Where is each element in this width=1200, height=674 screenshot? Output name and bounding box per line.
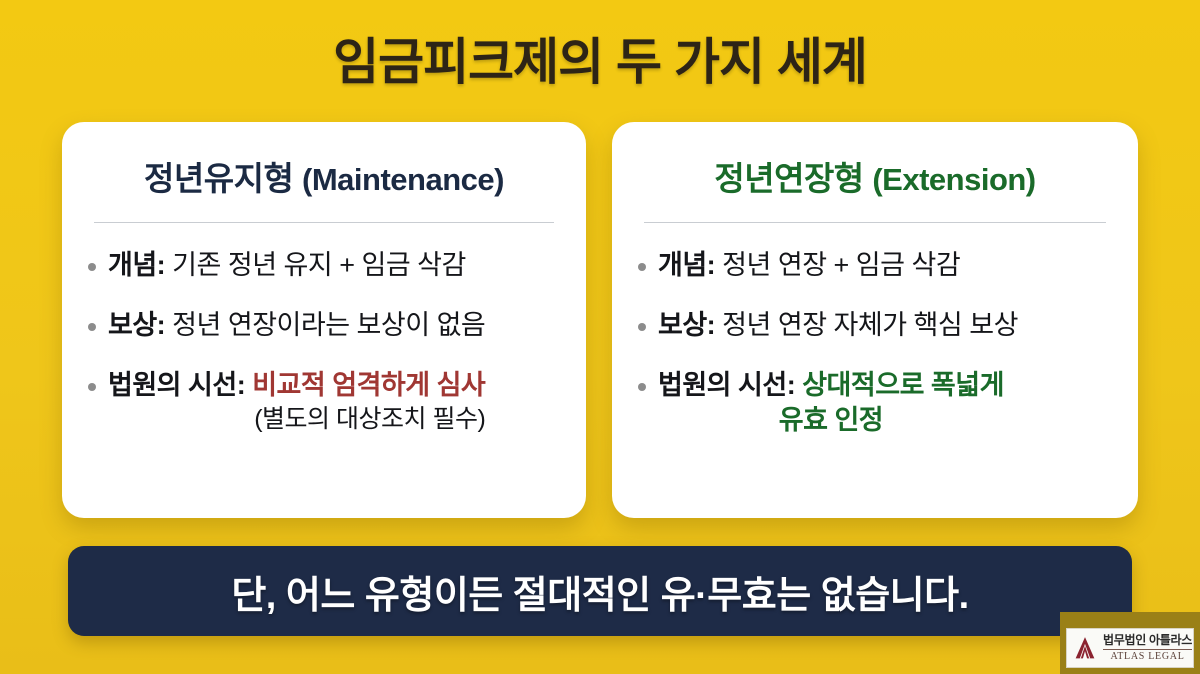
bullet-label: 보상:	[658, 310, 715, 340]
card-extension-heading-en: (Extension)	[872, 162, 1035, 197]
bullet-text: 개념: 기존 정년 유지 + 임금 삭감	[108, 249, 466, 283]
bullet-accent-line2: 유효 인정	[658, 404, 1004, 438]
bullet-dot-icon	[638, 263, 646, 271]
list-item: 법원의 시선: 비교적 엄격하게 심사 (별도의 대상조치 필수)	[88, 369, 560, 436]
atlas-mountain-icon	[1072, 635, 1098, 661]
card-extension-divider	[644, 222, 1106, 223]
slide-title: 임금피크제의 두 가지 세계	[0, 22, 1200, 94]
card-extension-heading-kr: 정년연장형	[714, 160, 863, 197]
card-maintenance-heading-kr: 정년유지형	[144, 160, 293, 197]
bullet-text: 법원의 시선: 상대적으로 폭넓게 유효 인정	[658, 369, 1004, 439]
bullet-body: 정년 연장이라는 보상이 없음	[165, 310, 485, 340]
bullet-dot-icon	[88, 263, 96, 271]
list-item: 보상: 정년 연장 자체가 핵심 보상	[638, 309, 1112, 343]
card-maintenance-bullet-list: 개념: 기존 정년 유지 + 임금 삭감 보상: 정년 연장이라는 보상이 없음…	[88, 249, 560, 436]
list-item: 개념: 정년 연장 + 임금 삭감	[638, 249, 1112, 283]
bullet-label: 법원의 시선:	[658, 370, 795, 400]
logo-korean-name: 법무법인 아틀라스	[1103, 634, 1192, 646]
bullet-label: 보상:	[108, 310, 165, 340]
card-extension-bullet-list: 개념: 정년 연장 + 임금 삭감 보상: 정년 연장 자체가 핵심 보상 법원…	[638, 249, 1112, 438]
bottom-banner: 단, 어느 유형이든 절대적인 유·무효는 없습니다.	[68, 546, 1132, 636]
card-extension: 정년연장형 (Extension) 개념: 정년 연장 + 임금 삭감 보상: …	[612, 122, 1138, 518]
list-item: 법원의 시선: 상대적으로 폭넓게 유효 인정	[638, 369, 1112, 439]
bullet-dot-icon	[88, 323, 96, 331]
bullet-body: 기존 정년 유지 + 임금 삭감	[165, 250, 466, 280]
bullet-text: 보상: 정년 연장 자체가 핵심 보상	[658, 309, 1018, 343]
bullet-text: 개념: 정년 연장 + 임금 삭감	[658, 249, 960, 283]
brand-logo: 법무법인 아틀라스 ATLAS LEGAL	[1066, 628, 1194, 668]
card-extension-heading: 정년연장형 (Extension)	[638, 152, 1112, 200]
card-maintenance: 정년유지형 (Maintenance) 개념: 기존 정년 유지 + 임금 삭감…	[62, 122, 586, 518]
bullet-dot-icon	[638, 383, 646, 391]
bullet-body: 정년 연장 + 임금 삭감	[715, 250, 960, 280]
bottom-banner-text: 단, 어느 유형이든 절대적인 유·무효는 없습니다.	[231, 564, 968, 619]
card-maintenance-heading-en: (Maintenance)	[302, 162, 504, 197]
list-item: 개념: 기존 정년 유지 + 임금 삭감	[88, 249, 560, 283]
list-item: 보상: 정년 연장이라는 보상이 없음	[88, 309, 560, 343]
bullet-dot-icon	[88, 383, 96, 391]
bullet-subnote: (별도의 대상조치 필수)	[108, 404, 485, 435]
card-maintenance-divider	[94, 222, 554, 223]
bullet-label: 개념:	[108, 250, 165, 280]
card-maintenance-heading: 정년유지형 (Maintenance)	[88, 152, 560, 200]
bullet-label: 법원의 시선:	[108, 370, 245, 400]
bullet-dot-icon	[638, 323, 646, 331]
logo-wordmark: 법무법인 아틀라스 ATLAS LEGAL	[1103, 634, 1192, 662]
slide-canvas: 임금피크제의 두 가지 세계 정년유지형 (Maintenance) 개념: 기…	[0, 0, 1200, 674]
bullet-accent-text: 비교적 엄격하게 심사	[245, 370, 485, 400]
bullet-text: 법원의 시선: 비교적 엄격하게 심사 (별도의 대상조치 필수)	[108, 369, 485, 436]
bullet-body: 정년 연장 자체가 핵심 보상	[715, 310, 1018, 340]
logo-english-name: ATLAS LEGAL	[1103, 649, 1192, 662]
bullet-text: 보상: 정년 연장이라는 보상이 없음	[108, 309, 485, 343]
bullet-label: 개념:	[658, 250, 715, 280]
bullet-accent-text: 상대적으로 폭넓게	[795, 370, 1004, 400]
